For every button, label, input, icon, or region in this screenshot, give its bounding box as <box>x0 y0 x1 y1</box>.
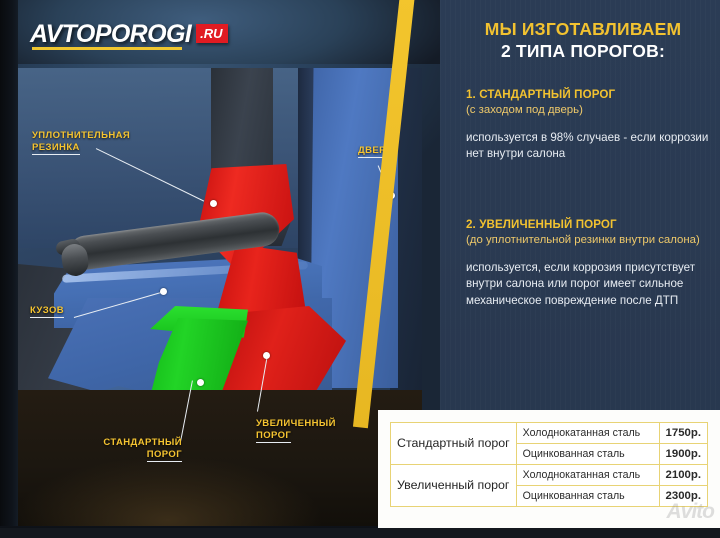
leader-dot-increased-sill <box>263 352 270 359</box>
price-row-price-0: 1750р. <box>659 423 707 444</box>
price-table-card: Стандартный порог Холоднокатанная сталь … <box>378 410 720 528</box>
section-increased-body: используется, если коррозия присутствует… <box>466 260 714 309</box>
callout-seal-rubber-line1: УПЛОТНИТЕЛЬНАЯ <box>32 130 130 141</box>
section-standard-sill: 1. СТАНДАРТНЫЙ ПОРОГ (с заходом под двер… <box>466 88 714 163</box>
bottom-border-strip <box>0 528 720 538</box>
price-row-material-0: Холоднокатанная сталь <box>516 423 659 444</box>
callout-body: КУЗОВ <box>30 305 64 317</box>
price-row-material-1: Оцинкованная сталь <box>516 444 659 465</box>
brand-logo[interactable]: AVTOPOROGI .RU <box>30 22 228 47</box>
callout-standard-sill-line2: ПОРОГ <box>147 449 182 462</box>
leader-dot-standard-sill <box>197 379 204 386</box>
price-row-price-2: 2100р. <box>659 465 707 486</box>
callout-body-line1: КУЗОВ <box>30 305 64 318</box>
callout-increased-sill-line2: ПОРОГ <box>256 430 291 443</box>
brand-logo-tld-badge: .RU <box>196 24 227 43</box>
table-row: Стандартный порог Холоднокатанная сталь … <box>391 423 708 444</box>
callout-standard-sill-line1: СТАНДАРТНЫЙ <box>103 437 182 448</box>
callout-increased-sill-line1: УВЕЛИЧЕННЫЙ <box>256 418 336 429</box>
price-row-price-1: 1900р. <box>659 444 707 465</box>
leader-dot-seal-rubber <box>210 200 217 207</box>
price-row-name-standard: Стандартный порог <box>391 423 517 465</box>
section-standard-heading: 1. СТАНДАРТНЫЙ ПОРОГ <box>466 88 714 101</box>
callout-increased-sill: УВЕЛИЧЕННЫЙ ПОРОГ <box>256 418 364 442</box>
advertisement-image: УПЛОТНИТЕЛЬНАЯ РЕЗИНКА ДВЕРЬ КУЗОВ СТАНД… <box>0 0 720 538</box>
price-row-material-3: Оцинкованная сталь <box>516 486 659 507</box>
price-table: Стандартный порог Холоднокатанная сталь … <box>390 422 708 507</box>
section-increased-heading: 2. УВЕЛИЧЕННЫЙ ПОРОГ <box>466 218 714 231</box>
brand-logo-name: AVTOPOROGI <box>30 22 191 47</box>
brand-logo-underline <box>32 47 182 50</box>
callout-seal-rubber: УПЛОТНИТЕЛЬНАЯ РЕЗИНКА <box>32 130 130 154</box>
table-row: Увеличенный порог Холоднокатанная сталь … <box>391 465 708 486</box>
callout-seal-rubber-line2: РЕЗИНКА <box>32 142 80 155</box>
section-increased-sill: 2. УВЕЛИЧЕННЫЙ ПОРОГ (до уплотнительной … <box>466 218 714 309</box>
price-row-price-3: 2300р. <box>659 486 707 507</box>
panel-heading: МЫ ИЗГОТАВЛИВАЕМ 2 ТИПА ПОРОГОВ: <box>454 18 712 62</box>
panel-heading-line1: МЫ ИЗГОТАВЛИВАЕМ <box>485 19 682 39</box>
callout-standard-sill: СТАНДАРТНЫЙ ПОРОГ <box>78 437 182 461</box>
panel-heading-line2: 2 ТИПА ПОРОГОВ: <box>501 41 665 61</box>
section-standard-subheading: (с заходом под дверь) <box>466 103 714 118</box>
section-increased-subheading: (до уплотнительной резинки внутри салона… <box>466 233 714 248</box>
diagram-left-border <box>0 0 18 538</box>
leader-dot-body <box>160 288 167 295</box>
price-row-name-increased: Увеличенный порог <box>391 465 517 507</box>
section-standard-body: используется в 98% случаев - если корроз… <box>466 130 714 163</box>
price-row-material-2: Холоднокатанная сталь <box>516 465 659 486</box>
